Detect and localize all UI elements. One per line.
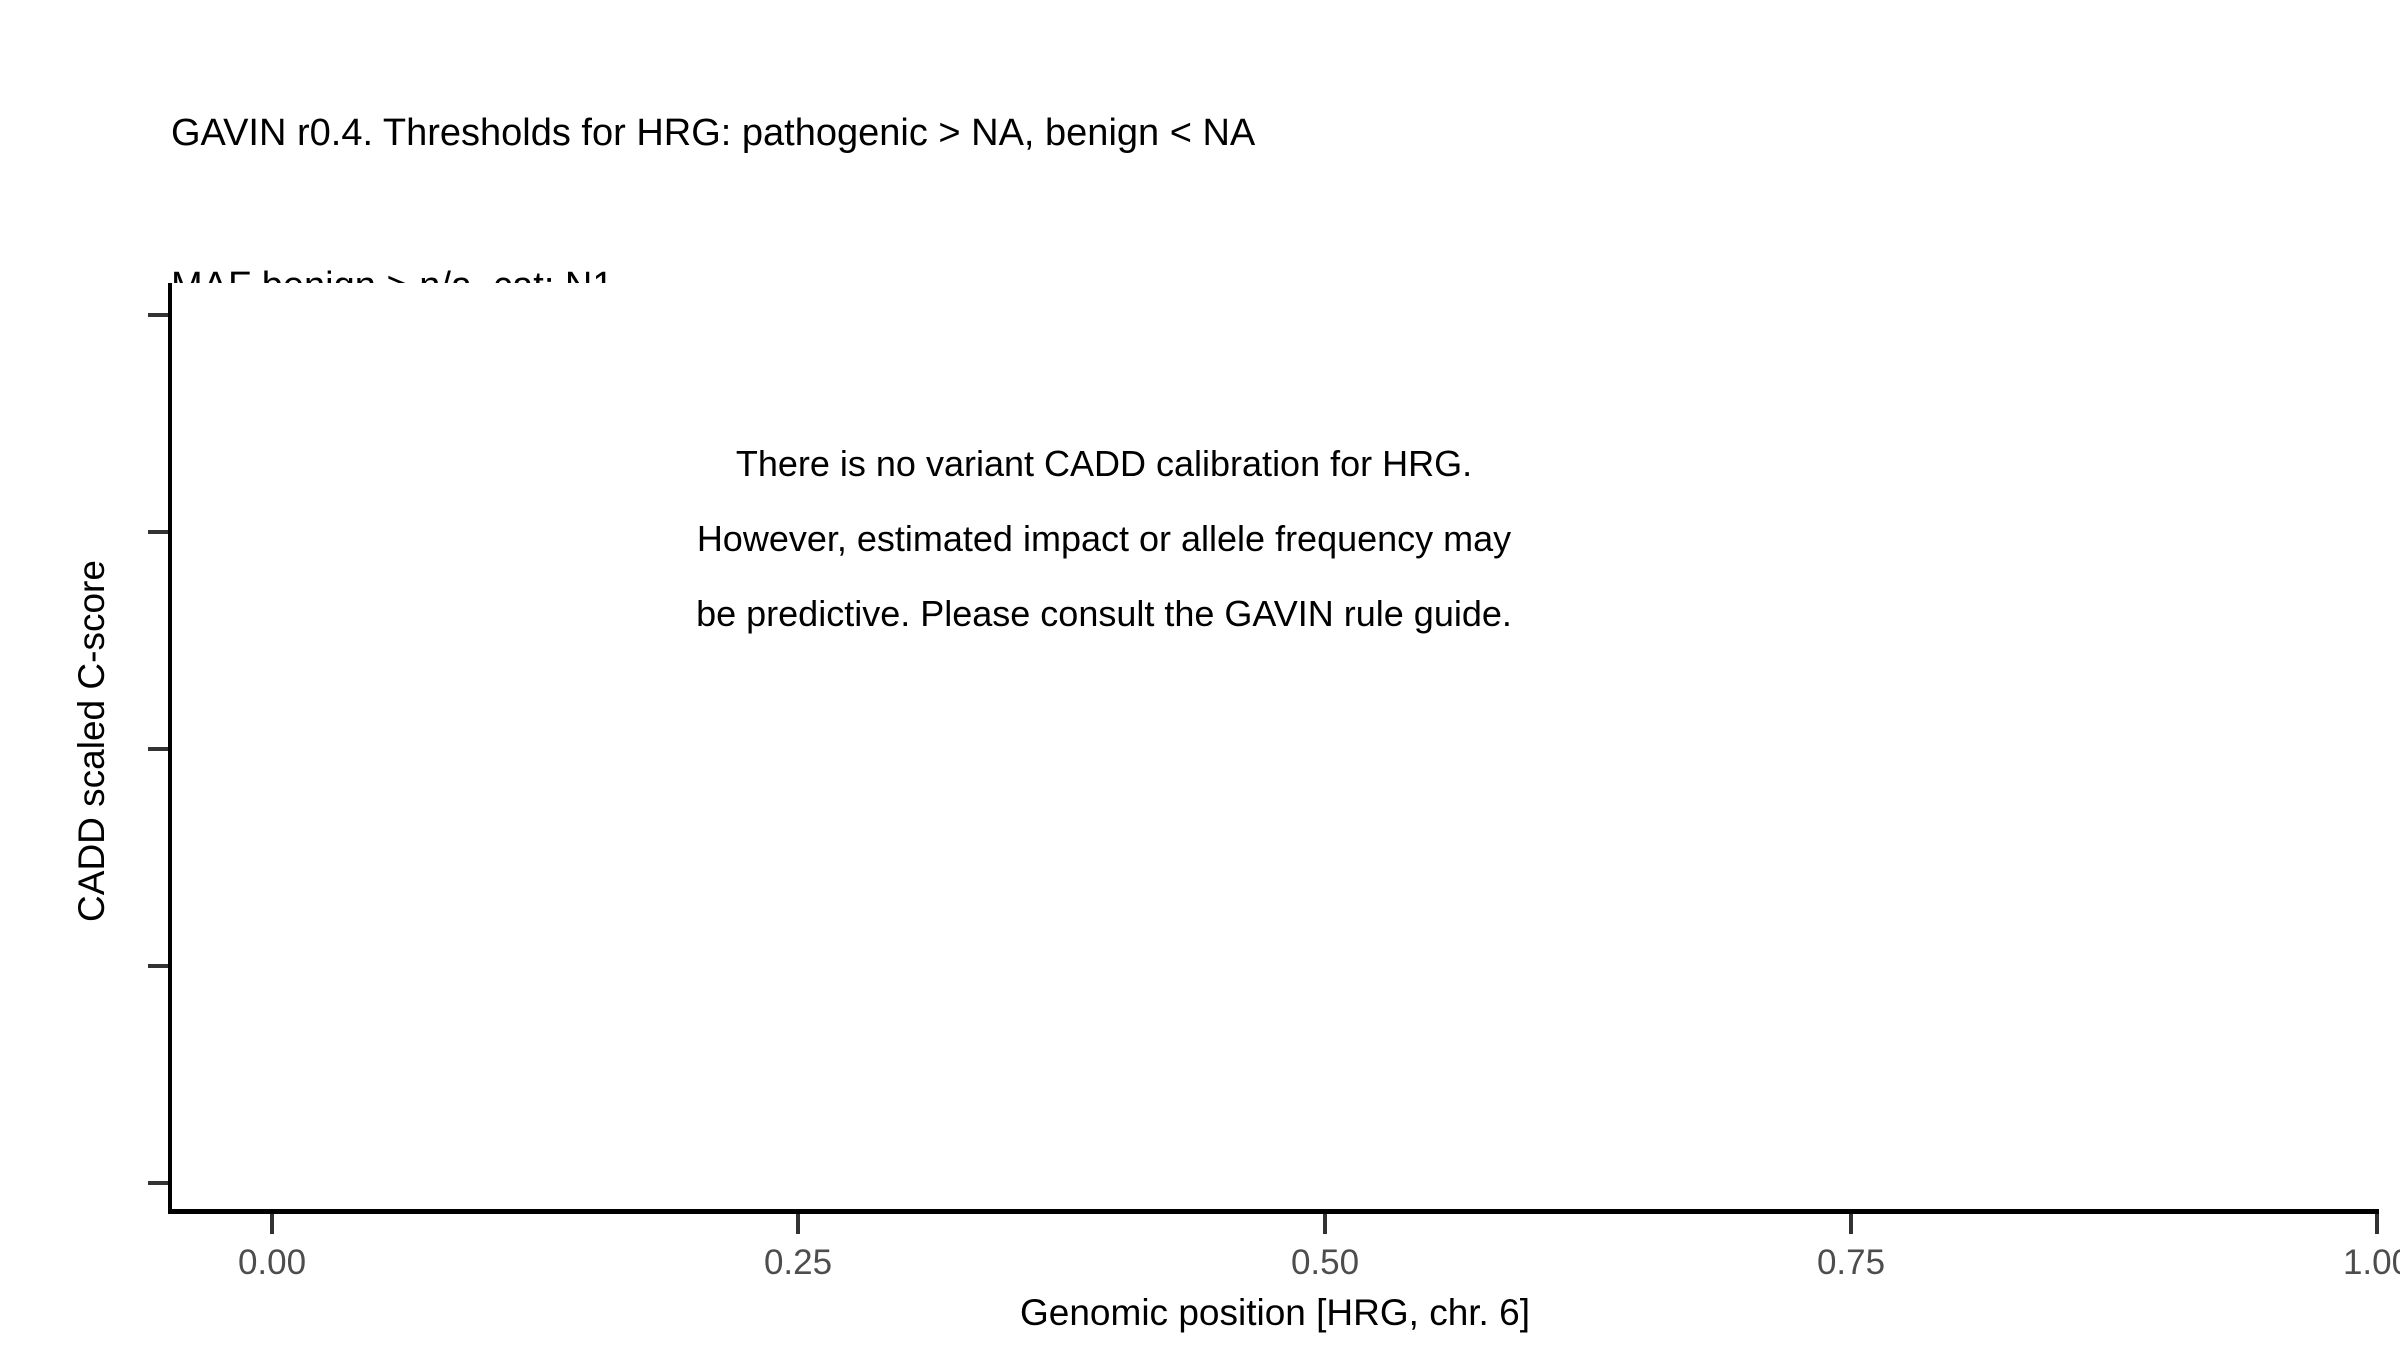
x-tick-mark [796,1214,800,1234]
y-tick-mark [148,313,168,317]
y-tick-mark [148,530,168,534]
y-axis-line [168,283,172,1213]
y-tick-mark [148,964,168,968]
x-tick-mark [270,1214,274,1234]
x-axis-title: Genomic position [HRG, chr. 6] [171,1292,2379,1334]
x-tick-label: 0.50 [1205,1243,1445,1283]
y-tick-mark [148,747,168,751]
y-tick-mark [148,1181,168,1185]
x-tick-mark [1323,1214,1327,1234]
y-axis-title: CADD scaled C-score [71,291,113,1191]
plot-annotation: There is no variant CADD calibration for… [404,426,1804,651]
x-tick-label: 0.00 [152,1243,392,1283]
annotation-line-1: There is no variant CADD calibration for… [404,426,1804,501]
x-tick-label: 0.25 [678,1243,918,1283]
annotation-line-3: be predictive. Please consult the GAVIN … [404,576,1804,651]
x-tick-mark [2375,1214,2379,1234]
plot-panel: There is no variant CADD calibration for… [171,283,2379,1213]
x-tick-mark [1849,1214,1853,1234]
annotation-line-2: However, estimated impact or allele freq… [404,501,1804,576]
x-tick-label: 1.00 [2257,1243,2400,1283]
x-tick-label: 0.75 [1731,1243,1971,1283]
x-axis-line [168,1209,2379,1214]
title-line-1: GAVIN r0.4. Thresholds for HRG: pathogen… [171,108,2351,159]
